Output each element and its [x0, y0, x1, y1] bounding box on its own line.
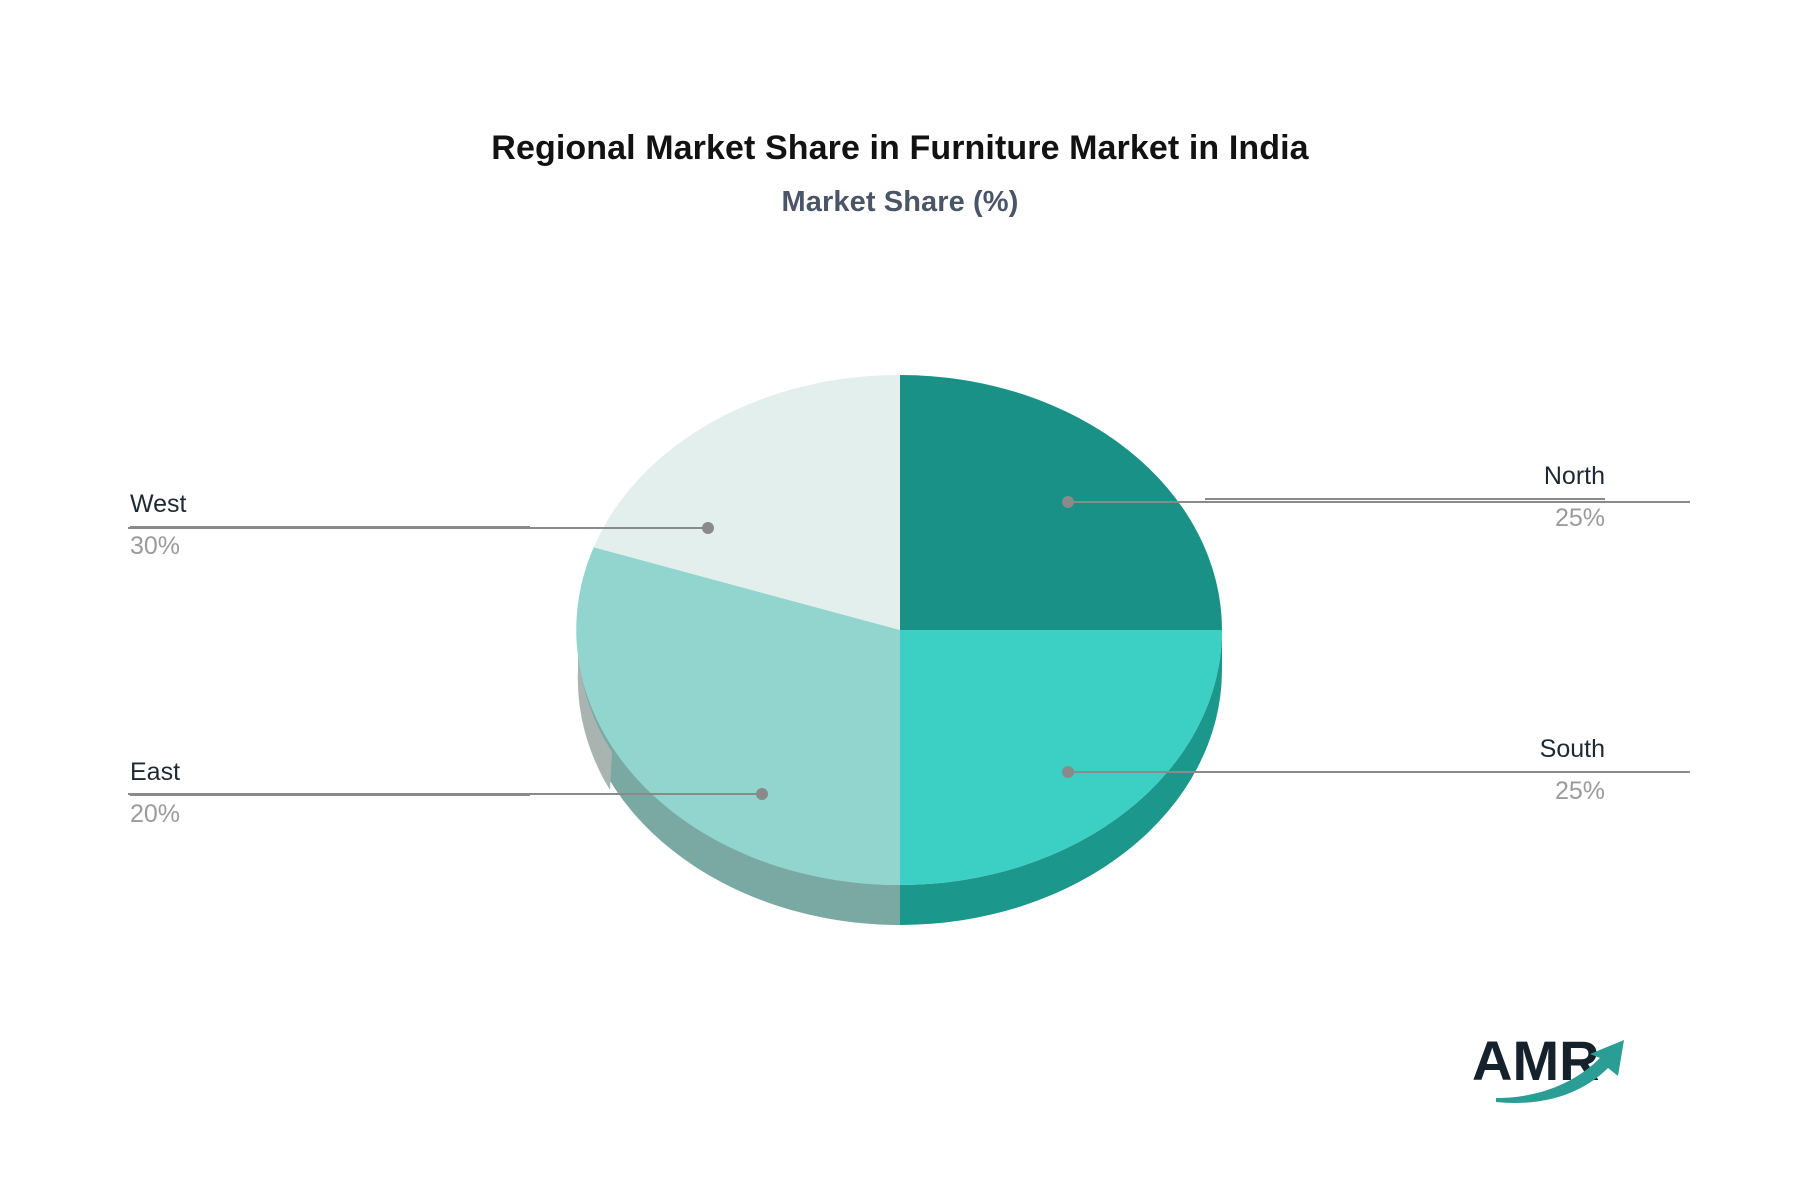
callout-north-label: North [1205, 462, 1605, 491]
callout-south-label: South [1205, 735, 1605, 764]
callout-east: East 20% [130, 758, 530, 829]
callout-north: North 25% [1205, 462, 1605, 533]
pie-slice-south [900, 630, 1222, 885]
pie-chart [0, 0, 1800, 1196]
callout-west-rule [130, 526, 530, 528]
callout-south-rule [1205, 771, 1605, 773]
chart-canvas: Regional Market Share in Furniture Marke… [0, 0, 1800, 1196]
callout-south-value: 25% [1205, 777, 1605, 806]
pie-svg [0, 0, 1800, 1196]
callout-east-rule [130, 794, 530, 796]
callout-west: West 30% [130, 490, 530, 561]
callout-east-value: 20% [130, 800, 530, 829]
callout-east-label: East [130, 758, 530, 787]
amr-logo: AMR [1472, 1028, 1652, 1108]
callout-south: South 25% [1205, 735, 1605, 806]
callout-north-value: 25% [1205, 504, 1605, 533]
callout-north-rule [1205, 498, 1605, 500]
amr-logo-svg: AMR [1472, 1028, 1652, 1108]
callout-west-value: 30% [130, 532, 530, 561]
callout-west-label: West [130, 490, 530, 519]
pie-slices [576, 375, 1222, 885]
